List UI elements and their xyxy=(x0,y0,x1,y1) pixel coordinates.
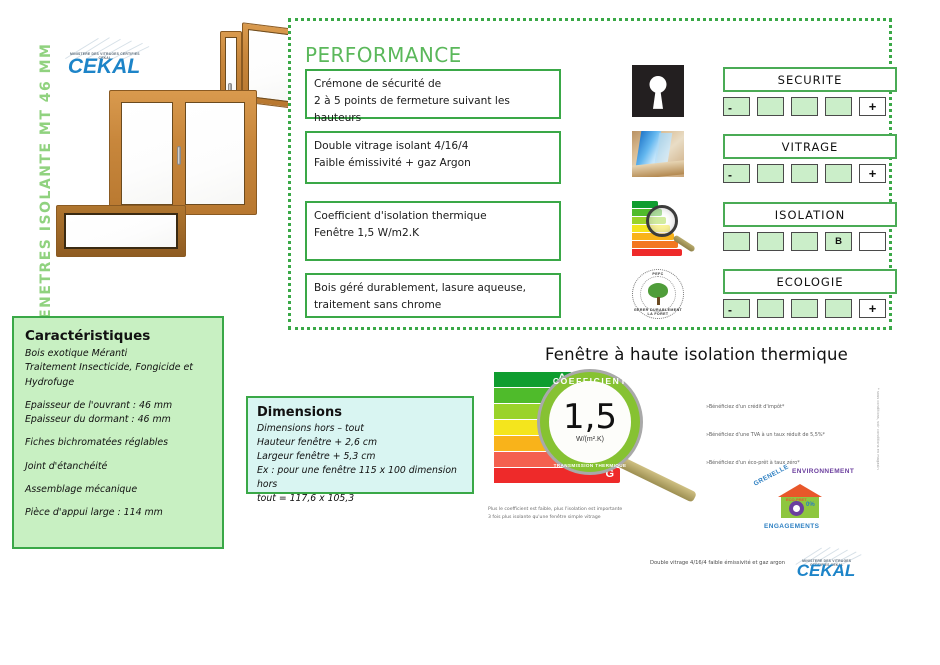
promo-title: Fenêtre à haute isolation thermique xyxy=(545,345,848,364)
rating-cell[interactable] xyxy=(791,164,818,183)
caracteristiques-card: Caractéristiques Bois exotique Méranti T… xyxy=(12,316,224,549)
rating-cell[interactable] xyxy=(757,164,784,183)
dimensions-line: tout = 117,6 x 105,3 xyxy=(257,492,463,506)
rating-cell[interactable] xyxy=(757,97,784,116)
window-handle xyxy=(177,146,181,165)
eco-stamp-arc-bottom: GERER DURABLEMENT LA FORET xyxy=(633,308,683,316)
rating-cells-isolation: B xyxy=(723,232,897,251)
window-transom-frame xyxy=(56,205,186,257)
carac-line: Bois exotique Méranti xyxy=(25,347,211,361)
dimensions-card: Dimensions Dimensions hors – tout Hauteu… xyxy=(246,396,474,494)
promo-bullet-1: »Bénéficiez d'un crédit d'impôt* xyxy=(706,404,784,410)
rating-row-isolation: ISOLATION B xyxy=(723,202,897,251)
grenelle-percent: 0% xyxy=(806,502,815,508)
feature-line: Coefficient d'isolation thermique xyxy=(314,208,552,225)
cekal-logo-bottom: MINISTERE DES VITRAGES CERTIFIES CEKAL C… xyxy=(790,546,862,582)
rating-cell[interactable] xyxy=(757,299,784,318)
carac-line: Epaisseur de l'ouvrant : 46 mm xyxy=(25,399,211,413)
rating-cell-plus[interactable]: + xyxy=(859,97,886,116)
cekal-logo-top: MINISTERE DES VITRAGES CERTIFIES CEKAL C… xyxy=(58,36,150,80)
feature-line: Double vitrage isolant 4/16/4 xyxy=(314,138,552,155)
rating-cell[interactable] xyxy=(757,232,784,251)
performance-feature-box-4: Bois géré durablement, lasure aqueuse, t… xyxy=(305,273,561,318)
dimensions-title: Dimensions xyxy=(257,405,463,420)
carac-line: Joint d'étanchéité xyxy=(25,460,211,474)
carac-line: Assemblage mécanique xyxy=(25,483,211,497)
promo-notes: Plus le coefficient est faible, plus l'i… xyxy=(488,506,738,522)
grenelle-word-2: ENVIRONNEMENT xyxy=(792,468,854,475)
promo-side-disclaimer: * sous conditions, voir conditions en ma… xyxy=(876,388,880,470)
promo-arc-top-label: COEFFICIENT xyxy=(540,376,640,386)
promo-note-line: Plus le coefficient est faible, plus l'i… xyxy=(488,506,738,514)
bottom-glazing-note: Double vitrage 4/16/4 faible émissivité … xyxy=(650,560,785,566)
feature-line: Bois géré durablement, lasure aqueuse, xyxy=(314,280,552,297)
eco-tree-stamp-icon: PEFC GERER DURABLEMENT LA FORET xyxy=(632,269,684,319)
promo-bullet-2: »Bénéficiez d'une TVA à un taux réduit d… xyxy=(706,432,825,438)
rating-label-ecologie: ECOLOGIE xyxy=(723,269,897,294)
dimensions-line: Dimensions hors – tout xyxy=(257,422,463,436)
glazing-photo-icon xyxy=(632,131,684,177)
feature-line: Faible émissivité + gaz Argon xyxy=(314,155,552,172)
grenelle-word-3: ENGAGEMENTS xyxy=(764,523,819,530)
rating-cell-empty[interactable] xyxy=(859,232,886,251)
performance-panel: PERFORMANCE Crémone de sécurité de 2 à 5… xyxy=(288,18,892,330)
performance-feature-box-1: Crémone de sécurité de 2 à 5 points de f… xyxy=(305,69,561,119)
feature-line: traitement sans chrome xyxy=(314,297,552,314)
rating-cell[interactable] xyxy=(825,164,852,183)
rating-cell-minus[interactable]: - xyxy=(723,97,750,116)
promo-note-line: 3 fois plus isolante qu'une fenêtre simp… xyxy=(488,514,738,522)
carac-line: Fiches bichromatées réglables xyxy=(25,436,211,450)
promo-coefficient-magnifier: 1,5 W/(m².K) COEFFICIENT TRANSMISSION TH… xyxy=(540,372,640,472)
keyhole-icon xyxy=(632,65,684,117)
rating-cell[interactable] xyxy=(825,299,852,318)
carac-line: Epaisseur du dormant : 46 mm xyxy=(25,413,211,427)
rating-label-vitrage: VITRAGE xyxy=(723,134,897,159)
rating-cells-securite: - + xyxy=(723,97,897,116)
rating-cell[interactable] xyxy=(791,232,818,251)
rating-cells-vitrage: - + xyxy=(723,164,897,183)
rating-cell-plus[interactable]: + xyxy=(859,164,886,183)
performance-feature-box-2: Double vitrage isolant 4/16/4 Faible émi… xyxy=(305,131,561,184)
rating-label-securite: SECURITE xyxy=(723,67,897,92)
cekal-wordmark: CEKAL xyxy=(58,55,150,79)
grenelle-environnement-logo: GRENELLE ENVIRONNEMENT ENGAGEMENTS ECO-P… xyxy=(748,468,852,532)
carac-line: Traitement Insecticide, Fongicide et xyxy=(25,361,211,375)
performance-feature-box-3: Coefficient d'isolation thermique Fenêtr… xyxy=(305,201,561,261)
promo-arc-bottom-label: TRANSMISSION THERMIQUE xyxy=(540,463,640,468)
performance-title: PERFORMANCE xyxy=(305,43,462,67)
caracteristiques-title: Caractéristiques xyxy=(25,328,211,344)
rating-cell[interactable] xyxy=(825,97,852,116)
document-page: FENETRES ISOLANTE MT 46 MM MINISTERE DES… xyxy=(0,0,940,665)
rating-cell[interactable] xyxy=(791,299,818,318)
dimensions-line: Largeur fenêtre + 5,3 cm xyxy=(257,450,463,464)
energy-magnifier-icon xyxy=(632,201,690,256)
feature-line: Fenêtre 1,5 W/m2.K xyxy=(314,225,552,242)
window-glass-left xyxy=(121,102,173,205)
rating-row-ecologie: ECOLOGIE - + xyxy=(723,269,897,318)
window-main-frame xyxy=(109,90,257,215)
grenelle-house-icon: ECO-PRET 0% xyxy=(778,484,822,518)
rating-row-securite: SECURITE - + xyxy=(723,67,897,116)
rating-cell[interactable] xyxy=(723,232,750,251)
rating-row-vitrage: VITRAGE - + xyxy=(723,134,897,183)
rating-cell-grade-b[interactable]: B xyxy=(825,232,852,251)
promo-coefficient-unit: W/(m².K) xyxy=(576,436,604,443)
dimensions-line: Hauteur fenêtre + 2,6 cm xyxy=(257,436,463,450)
feature-line: Crémone de sécurité de xyxy=(314,76,552,93)
window-glass-right xyxy=(185,102,245,205)
rating-cell-minus[interactable]: - xyxy=(723,164,750,183)
rating-cell-plus[interactable]: + xyxy=(859,299,886,318)
promo-coefficient-value: 1,5 xyxy=(563,401,617,433)
feature-line: hauteurs xyxy=(314,110,552,127)
window-glass-transom xyxy=(64,213,178,249)
rating-cells-ecologie: - + xyxy=(723,299,897,318)
dimensions-line: Ex : pour une fenêtre 115 x 100 dimensio… xyxy=(257,464,463,492)
rating-cell[interactable] xyxy=(791,97,818,116)
carac-line: Pièce d'appui large : 114 mm xyxy=(25,506,211,520)
carac-line: Hydrofuge xyxy=(25,376,211,390)
rating-label-isolation: ISOLATION xyxy=(723,202,897,227)
rating-cell-minus[interactable]: - xyxy=(723,299,750,318)
cekal-wordmark: CEKAL xyxy=(790,561,862,581)
feature-line: 2 à 5 points de fermeture suivant les xyxy=(314,93,552,110)
